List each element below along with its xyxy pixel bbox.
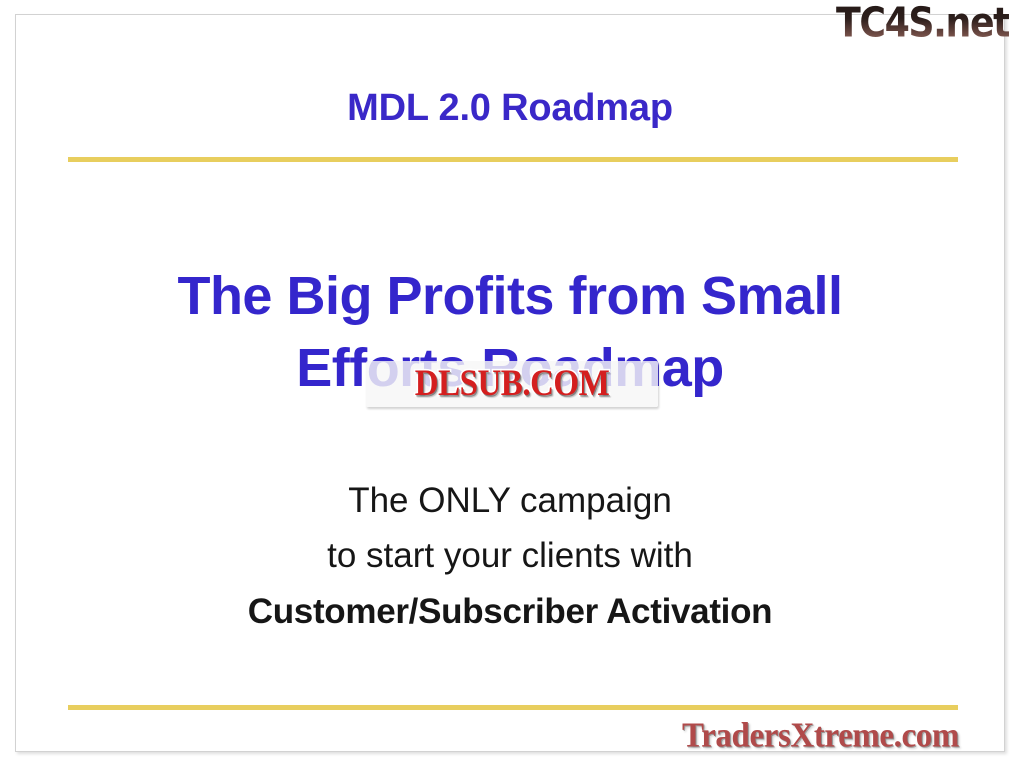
body-line-2: to start your clients with <box>16 528 1004 583</box>
watermark-dlsub: DLSUB.COM <box>366 361 658 407</box>
brand-tradersxtreme-text: TradersXtreme.com <box>682 716 959 755</box>
headline-line-1: The Big Profits from Small <box>16 261 1004 333</box>
body-line-3: Customer/Subscriber Activation <box>16 584 1004 639</box>
brand-tc4s-logo: TC4S.net <box>836 1 1024 45</box>
divider-bottom <box>68 705 958 710</box>
divider-top <box>68 157 958 162</box>
brand-tradersxtreme-logo: TradersXtreme.com <box>682 714 1024 758</box>
brand-tc4s-text: TC4S.net <box>836 1 1009 45</box>
body-copy: The ONLY campaign to start your clients … <box>16 473 1004 639</box>
body-line-1: The ONLY campaign <box>16 473 1004 528</box>
page-title: MDL 2.0 Roadmap <box>16 87 1004 130</box>
slide-stage: MDL 2.0 Roadmap The Big Profits from Sma… <box>0 0 1024 768</box>
watermark-dlsub-text: DLSUB.COM <box>415 363 609 404</box>
